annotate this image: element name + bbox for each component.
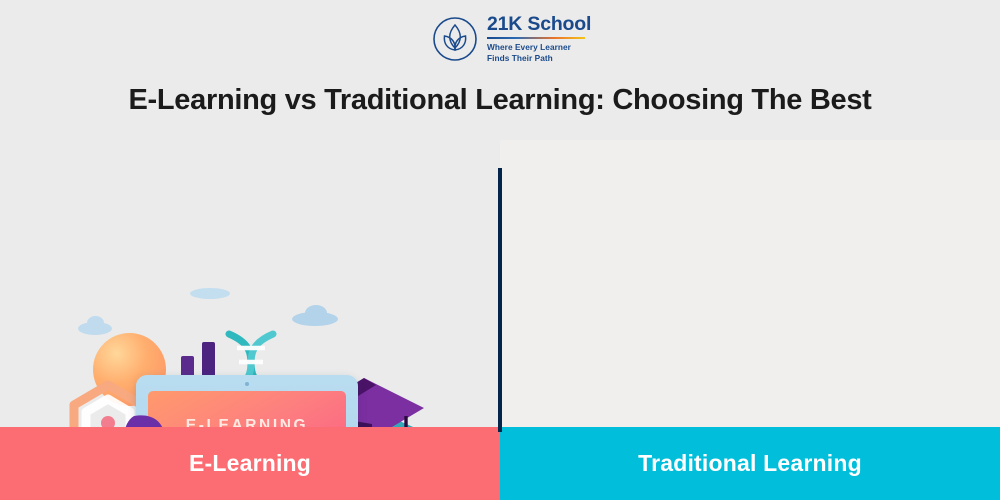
cloud-icon xyxy=(292,312,338,326)
logo-tagline: Where Every Learner Finds Their Path xyxy=(487,42,591,63)
logo-tagline-line1: Where Every Learner xyxy=(487,42,571,52)
label-bar-traditional-learning: Traditional Learning xyxy=(500,427,1000,500)
logo-name: 21K School xyxy=(487,14,591,34)
webcam-icon xyxy=(245,382,249,386)
lotus-circle-icon xyxy=(432,16,478,62)
label-e-learning: E-Learning xyxy=(189,450,311,477)
cloud-icon xyxy=(78,322,112,335)
label-bar-e-learning: E-Learning xyxy=(0,427,500,500)
page-title: E-Learning vs Traditional Learning: Choo… xyxy=(0,84,1000,117)
cloud-icon xyxy=(190,288,230,299)
banner: 21K School Where Every Learner Finds The… xyxy=(0,0,1000,500)
logo-tagline-line2: Finds Their Path xyxy=(487,53,553,63)
label-traditional-learning: Traditional Learning xyxy=(638,450,862,477)
panel-divider xyxy=(498,168,502,432)
logo-gradient-rule xyxy=(487,37,585,40)
brand-logo[interactable]: 21K School Where Every Learner Finds The… xyxy=(432,14,591,63)
logo-text-block: 21K School Where Every Learner Finds The… xyxy=(487,14,591,63)
